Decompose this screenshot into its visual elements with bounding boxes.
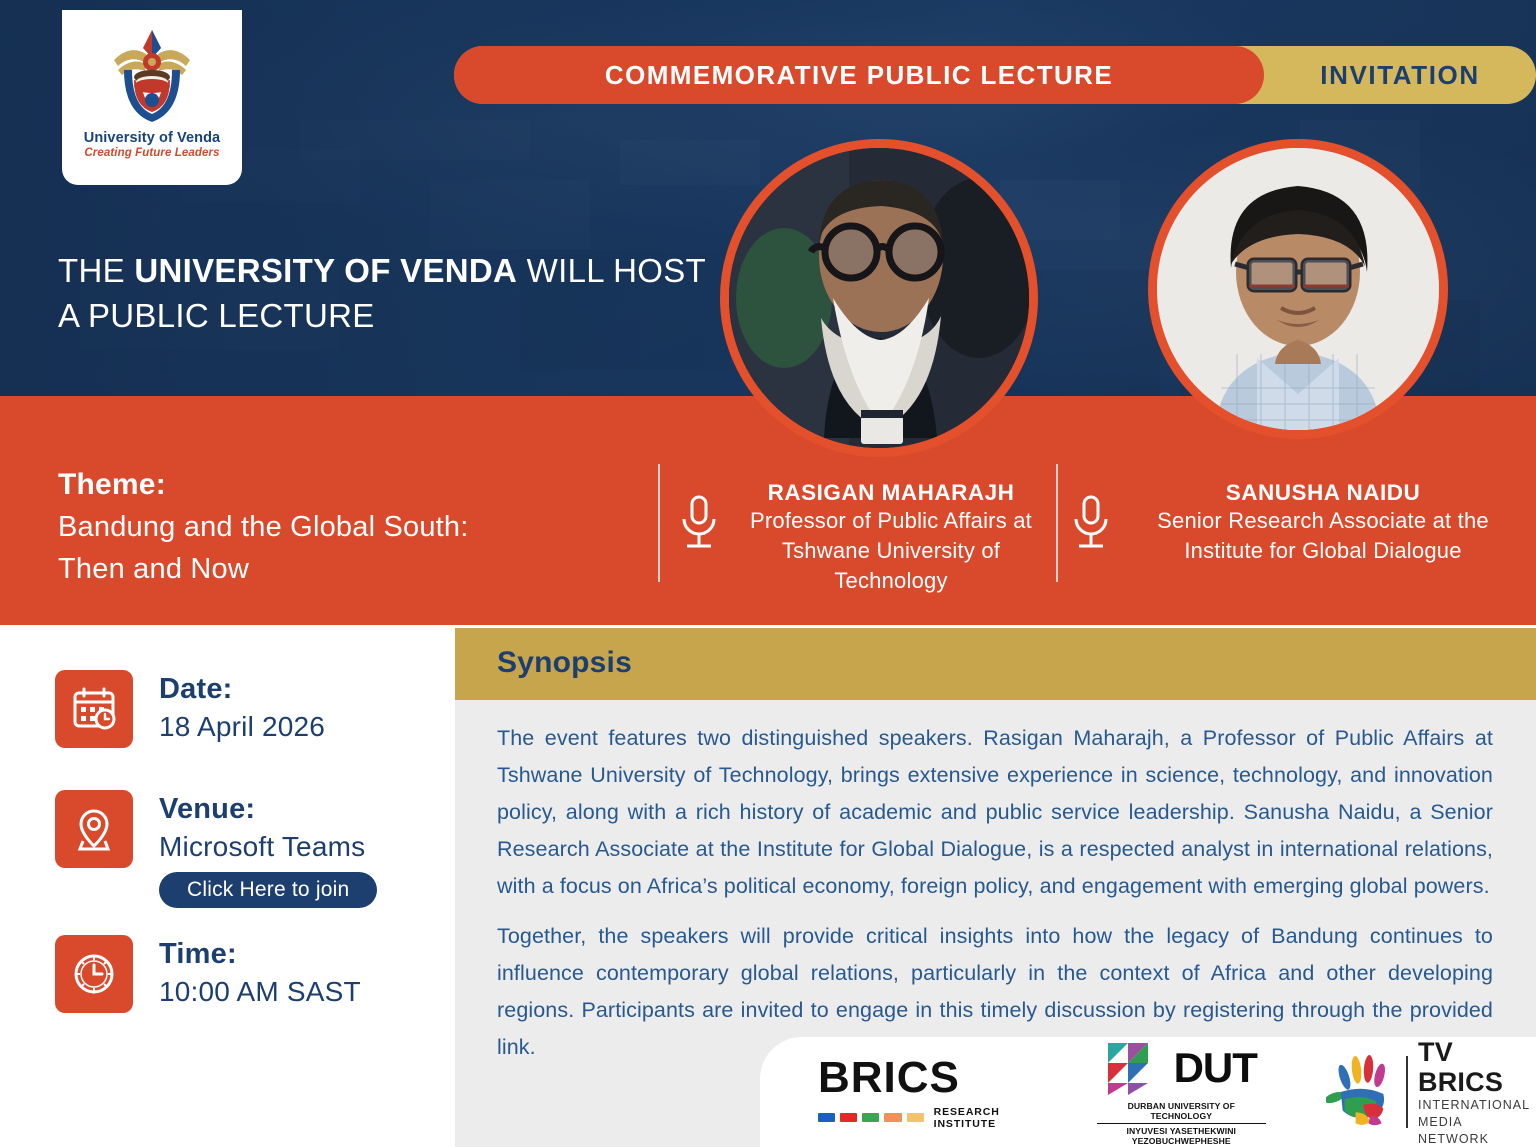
speaker-portrait-rasigan-maharajh (720, 139, 1038, 457)
tv-brics-sub-1: INTERNATIONAL (1418, 1097, 1536, 1114)
calendar-icon (70, 685, 118, 733)
headline-emphasis: UNIVERSITY OF VENDA (134, 252, 517, 289)
speaker-portrait-sanusha-naidu (1148, 139, 1448, 439)
brics-subtitle: RESEARCH INSTITUTE (934, 1106, 1037, 1130)
microphone-icon (1070, 494, 1112, 552)
logo-university-name: University of Venda (84, 130, 220, 146)
logo-tagline: Creating Future Leaders (84, 147, 219, 159)
speaker-card-1: RASIGAN MAHARAJH Professor of Public Aff… (678, 480, 1048, 596)
dut-subtitle-en: DURBAN UNIVERSITY OF TECHNOLOGY (1097, 1101, 1266, 1124)
brics-wordmark: BRICS (818, 1055, 960, 1101)
ribbon-gold-tail-line (1528, 73, 1536, 77)
swatch-red (840, 1113, 857, 1122)
divider-left (658, 464, 660, 582)
university-of-venda-crest-icon (100, 24, 204, 126)
ribbon-primary-pill: COMMEMORATIVE PUBLIC LECTURE (454, 46, 1264, 104)
theme-line-2: Then and Now (58, 548, 469, 590)
portrait-image-2 (1157, 148, 1439, 430)
speaker-role-2: Senior Research Associate at the Institu… (1126, 506, 1520, 566)
portrait-image-1 (729, 148, 1029, 448)
dut-subtitle-zu: INYUVESI YASETHEKWINI YEZOBUCHWEPHESHE (1097, 1126, 1266, 1146)
synopsis-paragraph-1: The event features two distinguished spe… (497, 720, 1493, 905)
swatch-yellow (907, 1113, 924, 1122)
clock-icon-tile (55, 935, 133, 1013)
ribbon-invitation-pill: INVITATION (1264, 46, 1536, 104)
partner-logo-strip: BRICS RESEARCH INSTITUTE (760, 1037, 1536, 1147)
headline-line-2: A PUBLIC LECTURE (58, 297, 375, 334)
clock-icon (70, 950, 118, 998)
event-details-panel: Date: 18 April 2026 Venue: Microsoft Tea… (0, 625, 455, 1147)
speaker-role-1: Professor of Public Affairs at Tshwane U… (734, 506, 1048, 596)
brics-research-institute-logo: BRICS RESEARCH INSTITUTE (818, 1055, 1037, 1130)
brics-color-bar: RESEARCH INSTITUTE (818, 1106, 1037, 1130)
ribbon-invitation-label: INVITATION (1320, 60, 1479, 91)
detail-row-venue: Venue: Microsoft Teams Click Here to joi… (55, 790, 377, 908)
swatch-green (862, 1113, 879, 1122)
venue-label: Venue: (159, 790, 377, 828)
headline-suffix: WILL HOST (517, 252, 706, 289)
theme-line-1: Bandung and the Global South: (58, 506, 469, 548)
join-meeting-button[interactable]: Click Here to join (159, 872, 377, 908)
colored-handprint-icon (1326, 1052, 1396, 1132)
page-title: THE UNIVERSITY OF VENDA WILL HOST A PUBL… (58, 248, 706, 338)
calendar-icon-tile (55, 670, 133, 748)
dut-logo: DUT DURBAN UNIVERSITY OF TECHNOLOGY INYU… (1097, 1039, 1266, 1146)
date-label: Date: (159, 670, 325, 708)
detail-row-time: Time: 10:00 AM SAST (55, 935, 361, 1013)
time-value: 10:00 AM SAST (159, 973, 361, 1011)
theme-block: Theme: Bandung and the Global South: The… (58, 468, 469, 590)
microphone-icon (678, 494, 720, 552)
tv-brics-divider (1406, 1056, 1408, 1128)
time-label: Time: (159, 935, 361, 973)
swatch-orange (884, 1113, 901, 1122)
synopsis-header: Synopsis (455, 628, 1536, 700)
invitation-poster: University of Venda Creating Future Lead… (0, 0, 1536, 1147)
university-logo-card: University of Venda Creating Future Lead… (62, 10, 242, 185)
date-value: 18 April 2026 (159, 708, 325, 746)
speaker-name-1: RASIGAN MAHARAJH (734, 480, 1048, 506)
venue-value: Microsoft Teams (159, 828, 377, 866)
speaker-name-2: SANUSHA NAIDU (1126, 480, 1520, 506)
synopsis-title: Synopsis (497, 646, 632, 680)
theme-label: Theme: (58, 468, 469, 502)
headline-prefix: THE (58, 252, 134, 289)
detail-row-date: Date: 18 April 2026 (55, 670, 325, 748)
tv-brics-logo: TV BRICS INTERNATIONAL MEDIA NETWORK (1326, 1037, 1536, 1147)
dut-wordmark: DUT (1174, 1047, 1257, 1089)
location-pin-icon (70, 805, 118, 853)
location-pin-icon-tile (55, 790, 133, 868)
ribbon-primary-label: COMMEMORATIVE PUBLIC LECTURE (605, 60, 1113, 91)
dut-triangles-icon (1106, 1039, 1168, 1097)
divider-right (1056, 464, 1058, 582)
tv-brics-sub-2: MEDIA (1418, 1114, 1536, 1131)
speaker-card-2: SANUSHA NAIDU Senior Research Associate … (1070, 480, 1520, 566)
tv-brics-wordmark: TV BRICS (1418, 1037, 1536, 1097)
tv-brics-sub-3: NETWORK (1418, 1131, 1536, 1147)
swatch-blue (818, 1113, 835, 1122)
